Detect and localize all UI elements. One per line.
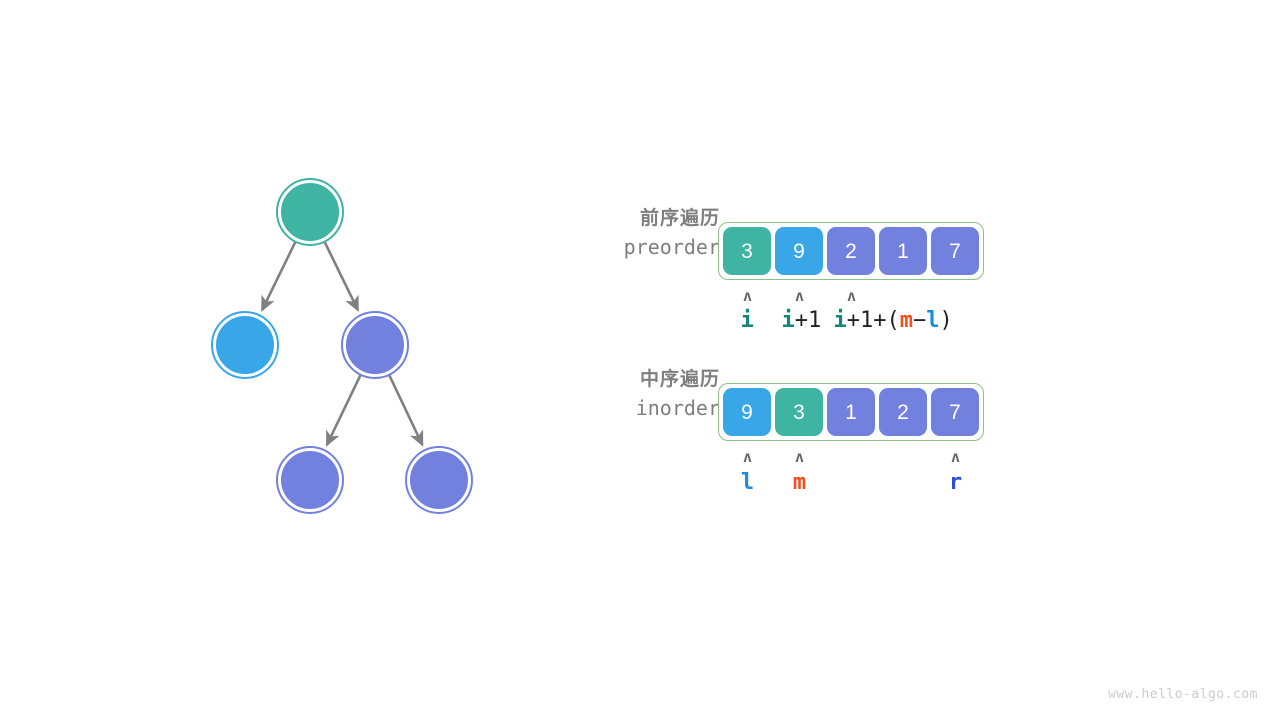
tree-node-3: 3: [279, 181, 341, 243]
inorder-caret-0: ʌ: [743, 450, 752, 465]
cell-value: 1: [897, 241, 909, 262]
tree-node-value: 1: [304, 470, 316, 491]
cell-value: 3: [741, 241, 753, 262]
preorder-annotation-1: i+1: [782, 310, 822, 332]
preorder-label-en: preorder: [560, 232, 720, 262]
inorder-annotation-0: l: [741, 472, 754, 494]
inorder-row-label: 中序遍历 inorder: [560, 367, 720, 423]
tree-edge-2-7: [389, 375, 422, 445]
inorder-cell-3: 2: [879, 388, 927, 436]
cell-value: 1: [845, 402, 857, 423]
inorder-label-en: inorder: [560, 393, 720, 423]
preorder-cell-1: 9: [775, 227, 823, 275]
diagram-canvas: 39217 前序遍历 preorder 39217 ʌʌʌ ii+1i+1+(m…: [0, 0, 1280, 720]
tree-edges: [0, 0, 560, 720]
preorder-caret-0: ʌ: [743, 289, 752, 304]
inorder-annotation-1: m: [793, 472, 806, 494]
inorder-cell-0: 9: [723, 388, 771, 436]
preorder-cell-2: 2: [827, 227, 875, 275]
preorder-annotation-2: i+1+(m−l): [834, 310, 953, 332]
tree-node-value: 7: [433, 470, 445, 491]
inorder-annotation-4: r: [949, 472, 962, 494]
tree-edge-3-9: [262, 242, 295, 310]
preorder-cell-4: 7: [931, 227, 979, 275]
tree-node-2: 2: [344, 314, 406, 376]
cell-value: 2: [845, 241, 857, 262]
cell-value: 3: [793, 402, 805, 423]
inorder-label-cn: 中序遍历: [560, 367, 720, 393]
cell-value: 9: [741, 402, 753, 423]
inorder-caret-4: ʌ: [951, 450, 960, 465]
inorder-cell-1: 3: [775, 388, 823, 436]
traversal-arrays: 前序遍历 preorder 39217 ʌʌʌ ii+1i+1+(m−l) 中序…: [540, 0, 1280, 720]
inorder-cell-2: 1: [827, 388, 875, 436]
tree-node-9: 9: [214, 314, 276, 376]
tree-edge-3-2: [324, 242, 357, 310]
preorder-row-label: 前序遍历 preorder: [560, 206, 720, 262]
tree-node-value: 3: [304, 202, 316, 223]
watermark: www.hello-algo.com: [1108, 687, 1258, 702]
tree-node-1: 1: [279, 449, 341, 511]
tree-node-value: 2: [369, 335, 381, 356]
preorder-cell-0: 3: [723, 227, 771, 275]
inorder-cell-4: 7: [931, 388, 979, 436]
tree-node-value: 9: [239, 335, 251, 356]
preorder-annotation-0: i: [741, 310, 754, 332]
preorder-label-cn: 前序遍历: [560, 206, 720, 232]
tree-edge-2-1: [327, 375, 361, 445]
tree-node-7: 7: [408, 449, 470, 511]
binary-tree-figure: 39217: [0, 0, 560, 720]
preorder-caret-1: ʌ: [795, 289, 804, 304]
preorder-array: 39217: [718, 222, 984, 280]
cell-value: 7: [949, 241, 961, 262]
cell-value: 2: [897, 402, 909, 423]
inorder-caret-1: ʌ: [795, 450, 804, 465]
cell-value: 7: [949, 402, 961, 423]
preorder-caret-2: ʌ: [847, 289, 856, 304]
inorder-array: 93127: [718, 383, 984, 441]
cell-value: 9: [793, 241, 805, 262]
preorder-cell-3: 1: [879, 227, 927, 275]
